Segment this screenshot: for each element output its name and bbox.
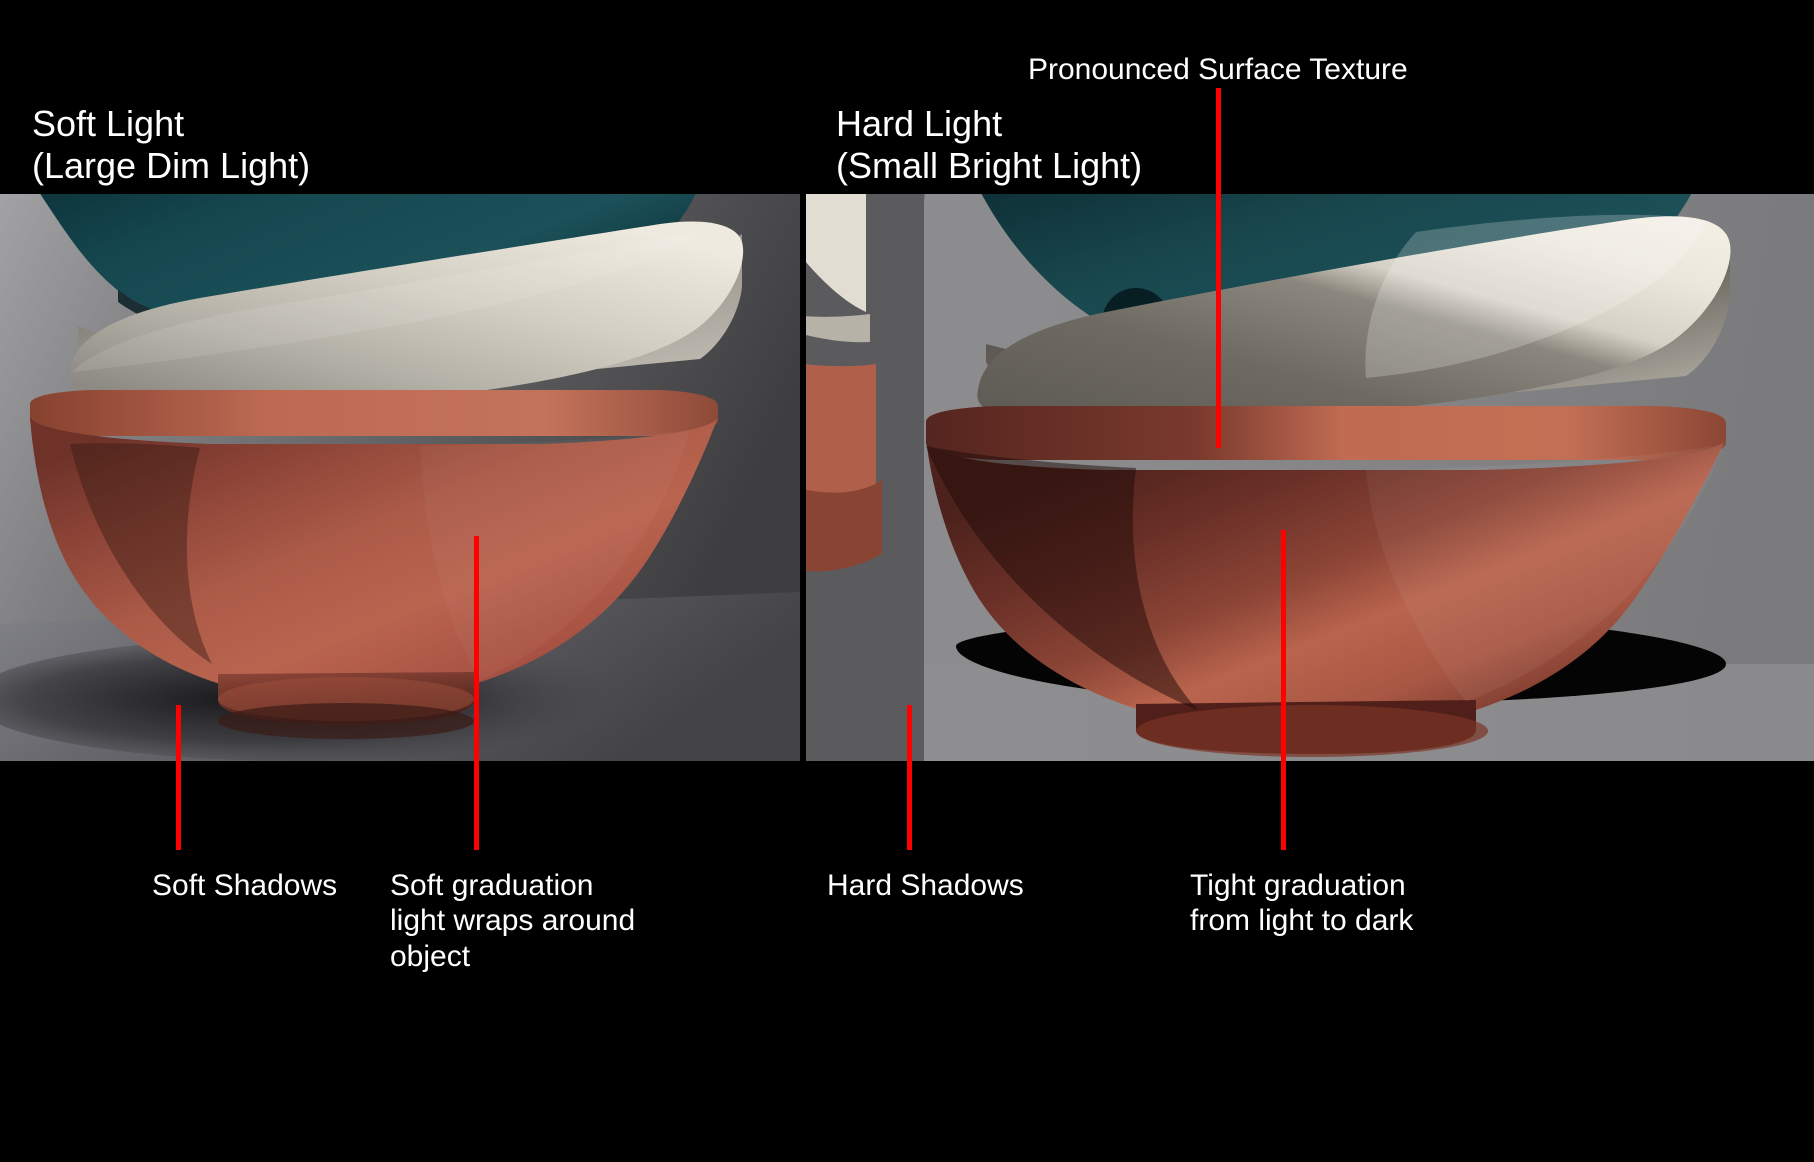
hard-light-render	[806, 194, 1814, 761]
panel-title-right: Hard Light (Small Bright Light)	[836, 103, 1142, 188]
leader-line-soft-graduation	[474, 536, 479, 850]
soft-light-image-panel	[0, 194, 800, 761]
annotation-soft-graduation: Soft graduation light wraps around objec…	[390, 868, 635, 974]
hard-light-image-panel	[806, 194, 1814, 761]
leader-line-surface-texture	[1216, 88, 1221, 448]
leader-line-tight-graduation	[1281, 530, 1286, 850]
panel-title-left: Soft Light (Large Dim Light)	[32, 103, 310, 188]
annotation-soft-shadows: Soft Shadows	[152, 868, 337, 903]
annotation-pronounced-surface-texture: Pronounced Surface Texture	[1028, 52, 1408, 87]
annotation-tight-graduation: Tight graduation from light to dark	[1190, 868, 1413, 939]
annotation-hard-shadows: Hard Shadows	[827, 868, 1024, 903]
leader-line-soft-shadows	[176, 705, 181, 850]
lighting-comparison-figure: Soft Light (Large Dim Light) Hard Light …	[0, 0, 1814, 1162]
soft-light-render	[0, 194, 800, 761]
leader-line-hard-shadows	[907, 705, 912, 850]
